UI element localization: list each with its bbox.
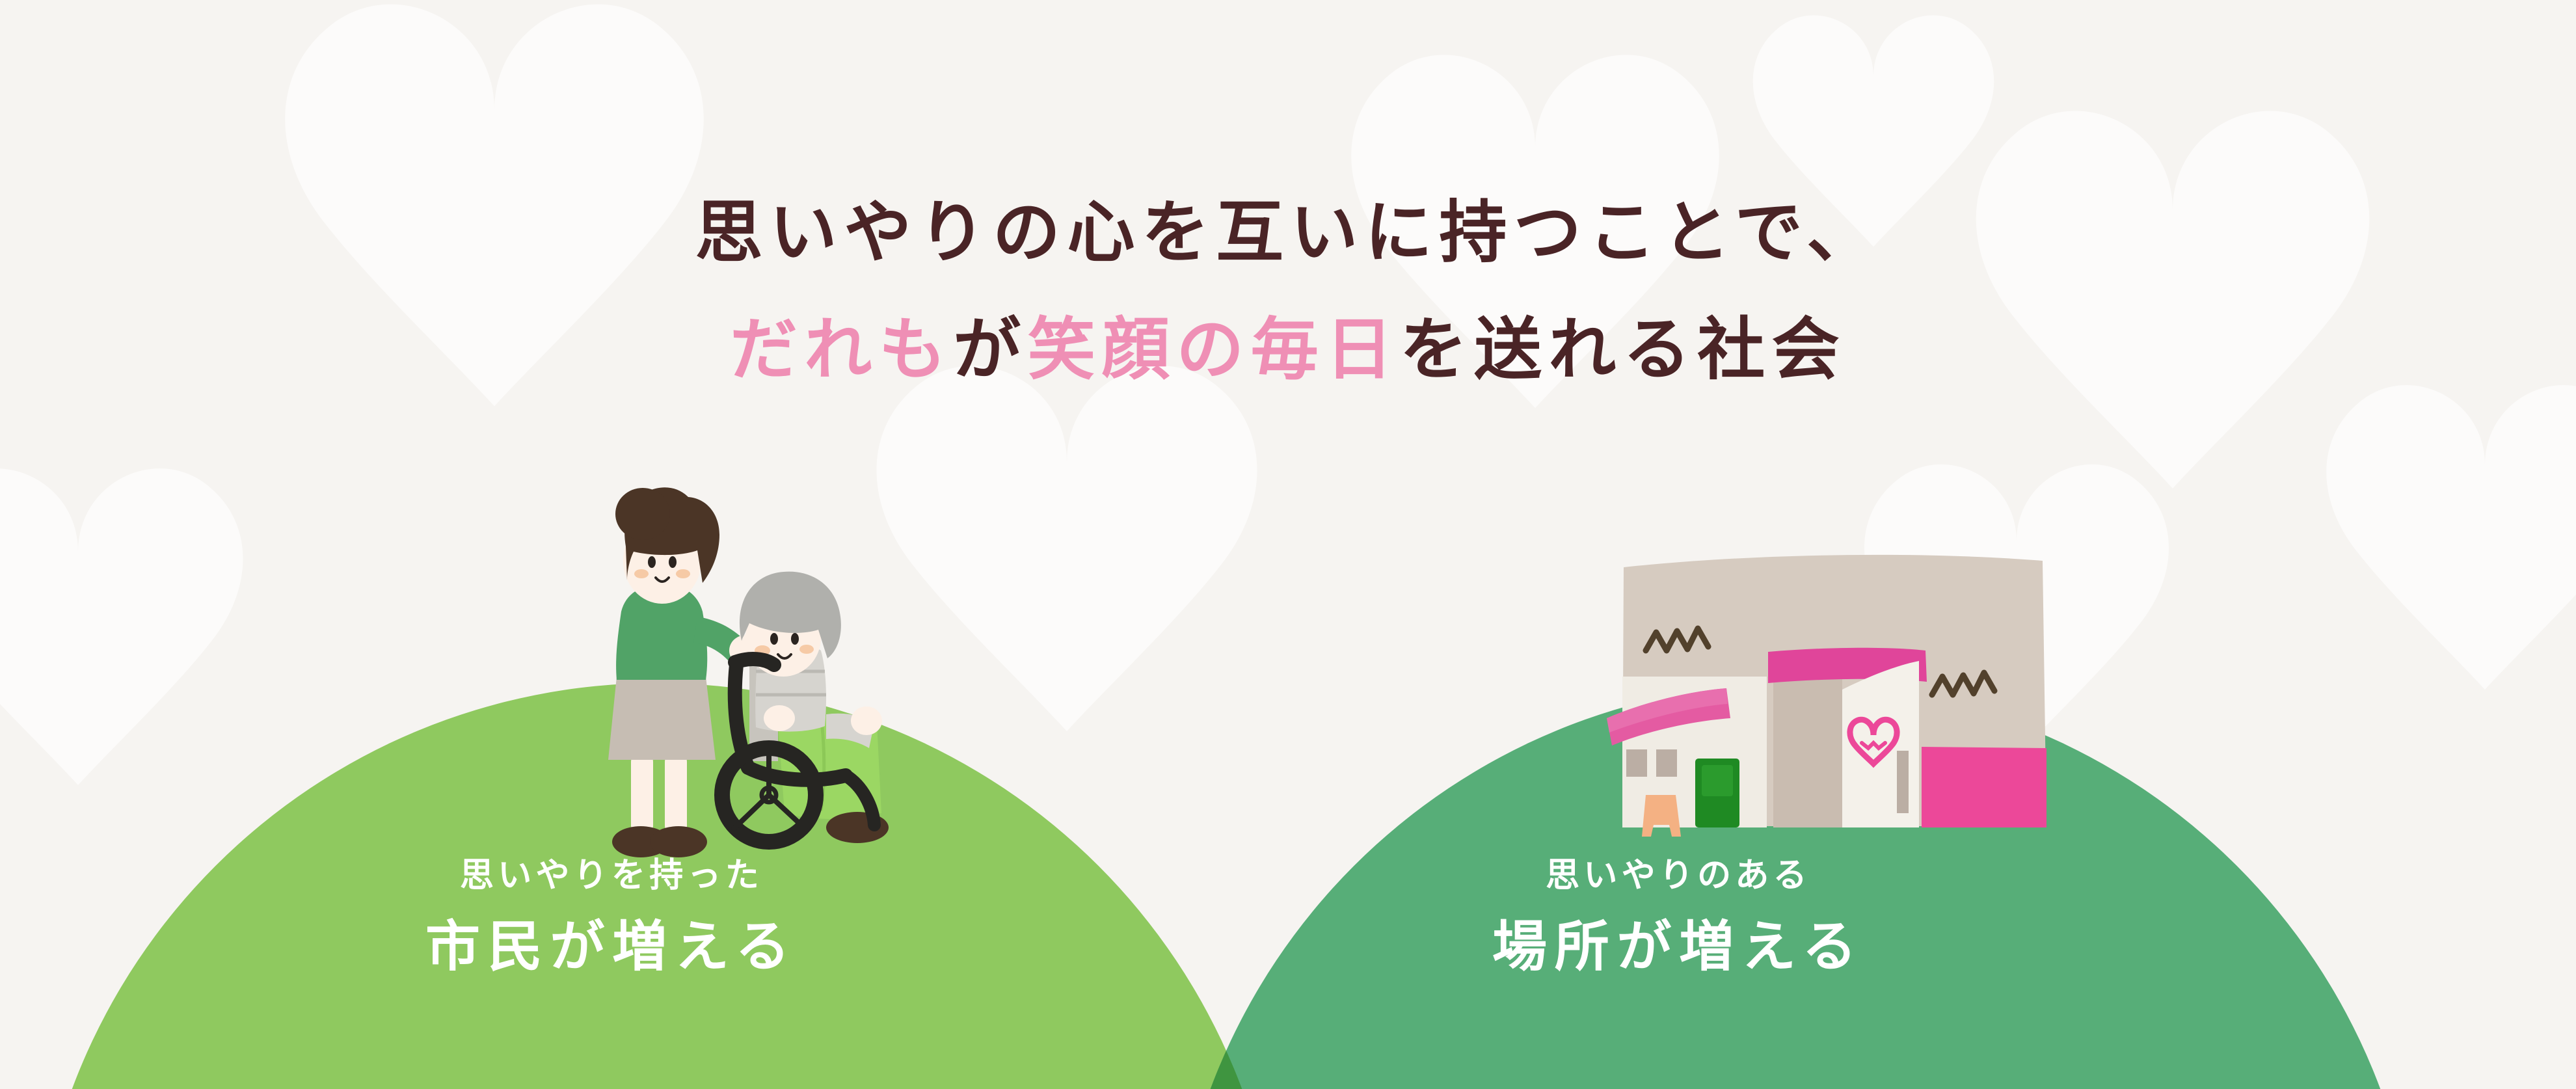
caption-left: 思いやりを持った 市民が増える [221, 857, 1002, 977]
caption-right-big: 場所が増える [1288, 917, 2069, 976]
headline-line2-seg3: 笑顔の毎日 [1028, 310, 1400, 389]
pink-base-band [1922, 747, 2046, 827]
window-2 [1656, 749, 1677, 777]
headline-line1-text: 思いやりの心を互いに持つことで、 [695, 193, 1881, 272]
headline-line-2: だれもが笑顔の毎日を送れる社会 [0, 294, 2576, 392]
headline-line2-seg4: を送れる社会 [1400, 310, 1846, 389]
headline-line2-seg2: が [953, 310, 1027, 389]
caption-right-small: 思いやりのある [1288, 857, 2069, 894]
caption-right: 思いやりのある 場所が増える [1288, 857, 2069, 977]
caption-left-big: 市民が増える [221, 917, 1002, 976]
headline-line2-seg1: だれも [730, 310, 953, 389]
window-1 [1626, 749, 1647, 777]
hero-banner: 思いやりの心を互いに持つことで、 だれもが笑顔の毎日を送れる社会 思いやりを持っ… [0, 0, 2576, 1089]
sandwich-board-sign [1642, 795, 1681, 837]
door-post [1897, 751, 1909, 813]
headline-line-1: 思いやりの心を互いに持つことで、 [0, 177, 2576, 275]
caption-left-small: 思いやりを持った [221, 857, 1002, 894]
